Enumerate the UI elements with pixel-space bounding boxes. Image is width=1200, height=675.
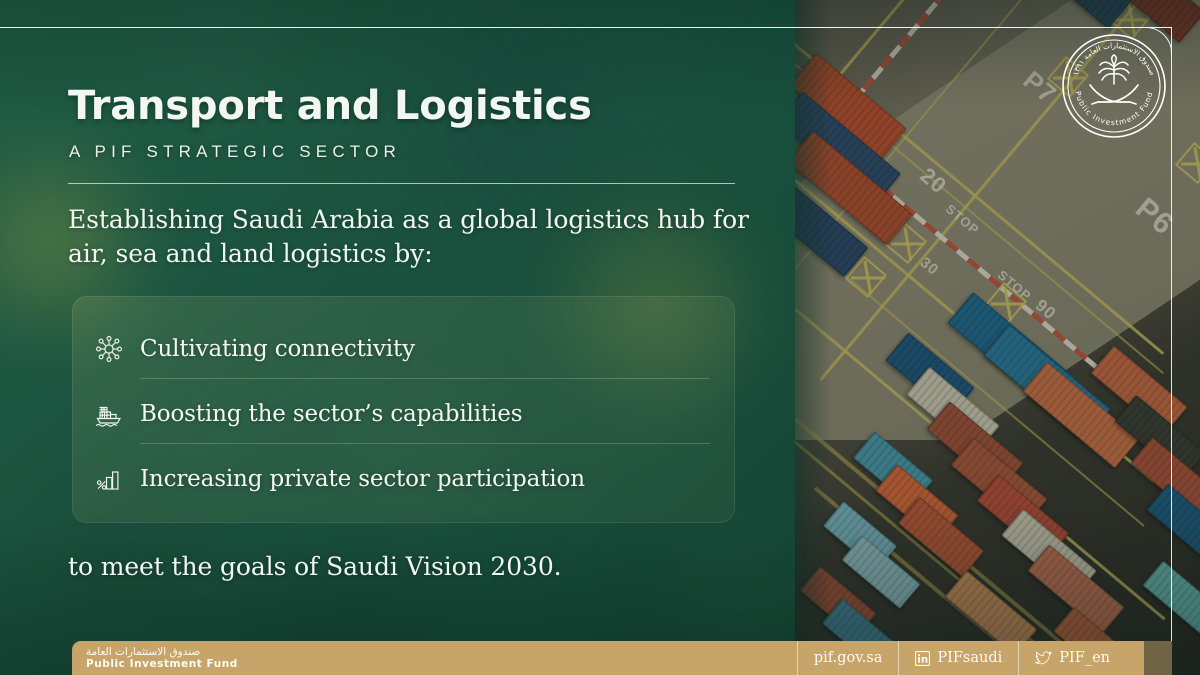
list-item-label: Cultivating connectivity xyxy=(140,336,415,362)
list-item[interactable]: Cultivating connectivity xyxy=(72,316,735,381)
list-item[interactable]: Boosting the sector’s capabilities xyxy=(72,381,735,446)
pif-emblem: صندوق الاستثمارات العامة ١٣٩١ Public Inv… xyxy=(1060,32,1168,140)
linkedin-icon xyxy=(915,651,930,666)
list-item[interactable]: Increasing private sector participation xyxy=(72,446,735,511)
footer-right-cap xyxy=(1144,641,1172,675)
network-connectivity-icon xyxy=(72,334,140,364)
twitter-handle: PIF_en xyxy=(1059,650,1110,666)
header-divider xyxy=(68,183,735,184)
percent-bar-chart-icon xyxy=(72,464,140,494)
footer-inner: صندوق الاستثمارات العامة Public Investme… xyxy=(72,641,1172,675)
pillars-list: Cultivating connectivity xyxy=(72,296,735,523)
footer-links: pif.gov.sa PIFsaudi xyxy=(797,641,1126,675)
right-frame-line xyxy=(1171,27,1172,675)
page-title: Transport and Logistics xyxy=(68,84,768,128)
closing-paragraph: to meet the goals of Saudi Vision 2030. xyxy=(68,552,768,581)
footer-brand-arabic: صندوق الاستثمارات العامة xyxy=(86,646,238,658)
twitter-bird-icon xyxy=(1035,651,1052,666)
linkedin-link[interactable]: PIFsaudi xyxy=(899,641,1018,675)
slide-content: Transport and Logistics A PIF STRATEGIC … xyxy=(0,0,800,675)
lede-paragraph: Establishing Saudi Arabia as a global lo… xyxy=(68,203,768,270)
footer-brand: صندوق الاستثمارات العامة Public Investme… xyxy=(86,646,238,670)
website-link[interactable]: pif.gov.sa xyxy=(798,641,899,675)
list-item-label: Increasing private sector participation xyxy=(140,466,585,492)
pillars-card: Cultivating connectivity xyxy=(72,296,735,523)
page-kicker: A PIF STRATEGIC SECTOR xyxy=(69,142,769,162)
list-item-label: Boosting the sector’s capabilities xyxy=(140,401,522,427)
twitter-link[interactable]: PIF_en xyxy=(1019,641,1126,675)
footer-brand-english: Public Investment Fund xyxy=(86,658,238,670)
linkedin-handle: PIFsaudi xyxy=(937,650,1002,666)
cargo-ship-icon xyxy=(72,399,140,429)
infographic-slide: P7 P7 P6 20 30 90 STOP STOP xyxy=(0,0,1200,675)
website-label: pif.gov.sa xyxy=(814,650,883,666)
footer-bar: صندوق الاستثمارات العامة Public Investme… xyxy=(72,641,1172,675)
